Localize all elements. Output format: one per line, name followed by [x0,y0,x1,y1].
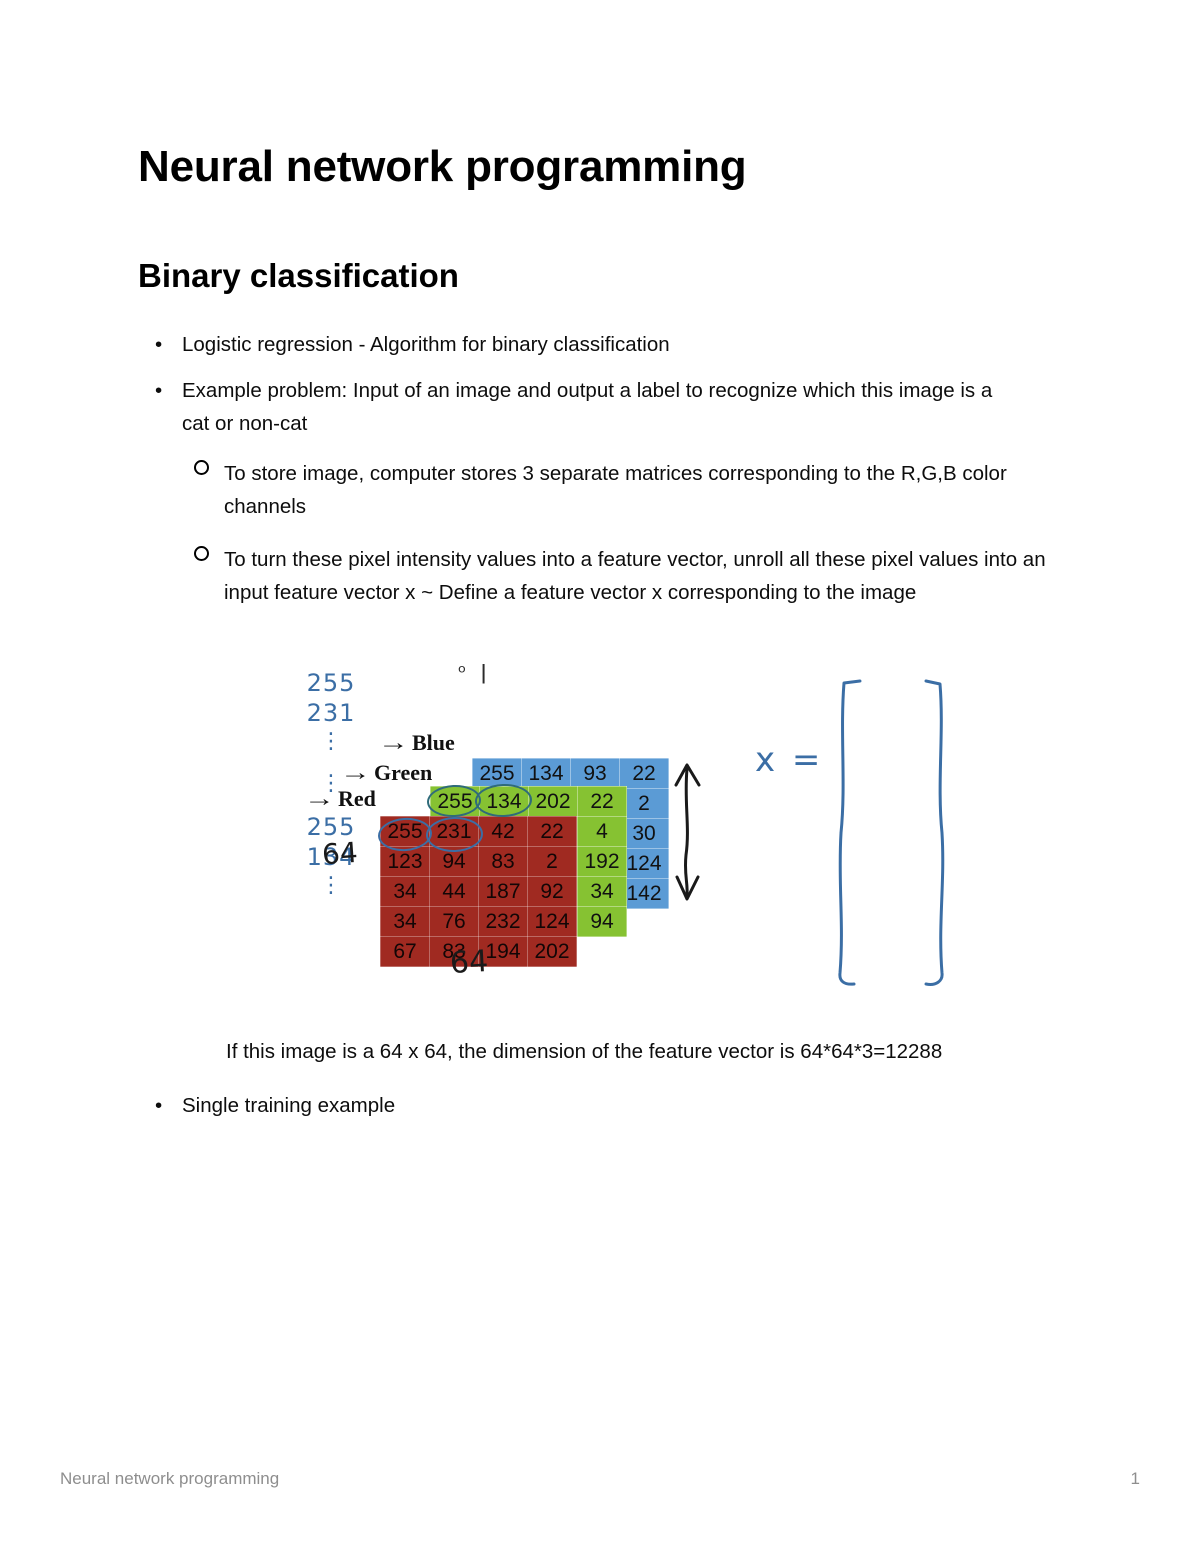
matrix-cell: 22 [528,817,577,847]
rgb-matrix-figure: ᵒ ǀ →Blue →Green →Red 255134932223012414… [270,655,1010,1005]
matrix-cell: 34 [381,907,430,937]
channel-label-green-text: Green [374,760,432,785]
list-item-text: To turn these pixel intensity values int… [224,548,1046,604]
matrix-cell: 34 [578,877,627,907]
channel-label-blue: →Blue [382,730,455,756]
handwritten-feature-vector-bracket [830,673,950,993]
channel-label-blue-text: Blue [412,730,455,755]
matrix-cell: 134 [522,759,571,789]
matrix-cell: 94 [578,907,627,937]
arrow-right-icon: → [304,786,335,812]
page-footer: Neural network programming 1 [60,1469,1140,1489]
matrix-cell: 202 [528,937,577,967]
footer-page-number: 1 [1131,1469,1140,1489]
bullet-circle-icon [194,458,209,482]
list-item: • Logistic regression - Algorithm for bi… [182,328,982,361]
feature-vector-entry: 255 [288,671,374,701]
matrix-cell: 34 [381,877,430,907]
matrix-cell: 187 [479,877,528,907]
matrix-cell: 67 [381,937,430,967]
matrix-cell: 192 [578,847,627,877]
bullet-circle-icon [194,544,209,568]
list-item: • Example problem: Input of an image and… [182,374,1012,440]
handwritten-dim-left: 64 [321,836,359,871]
document-page: Neural network programming Binary classi… [0,0,1200,1553]
bullet-disc-icon: • [155,1089,162,1122]
footer-title: Neural network programming [60,1469,279,1489]
list-item: To turn these pixel intensity values int… [224,543,1050,609]
section-title: Binary classification [138,258,459,294]
matrix-cell: 22 [578,787,627,817]
matrix-cell: 2 [528,847,577,877]
list-item: • Single training example [182,1089,682,1122]
matrix-row: 3476232124 [381,907,577,937]
double-arrow-vertical-icon [670,755,704,907]
bullet-disc-icon: • [155,374,162,407]
channel-label-red-text: Red [338,786,376,811]
matrix-cell: 44 [430,877,479,907]
matrix-cell: 42 [479,817,528,847]
page-title: Neural network programming [138,143,746,191]
feature-vector-entry: ⋮ [288,875,374,917]
matrix-cell: 22 [620,759,669,789]
matrix-row: 344418792 [381,877,577,907]
matrix-cell: 232 [479,907,528,937]
list-item-text: Single training example [182,1094,395,1117]
matrix-cell: 93 [571,759,620,789]
matrix-row: 12394832 [381,847,577,877]
arrow-right-icon: → [340,760,371,786]
list-item-text: Example problem: Input of an image and o… [182,379,992,435]
handwritten-x-equals: x = [755,740,823,780]
channel-label-green: →Green [344,760,432,786]
list-item-text: To store image, computer stores 3 separa… [224,462,1007,518]
matrix-cell: 92 [528,877,577,907]
arrow-right-icon: → [378,730,409,756]
figure-caption: If this image is a 64 x 64, the dimensio… [226,1040,942,1064]
handwritten-top-mark: ᵒ ǀ [458,660,491,684]
handwritten-dim-bottom: 64 [449,944,489,981]
channel-label-red: →Red [308,786,376,812]
feature-vector-entry: 231 [288,701,374,731]
list-item-text: Logistic regression - Algorithm for bina… [182,333,670,356]
list-item: To store image, computer stores 3 separa… [224,457,1014,523]
matrix-cell: 4 [578,817,627,847]
matrix-cell: 83 [479,847,528,877]
matrix-cell: 202 [529,787,578,817]
matrix-cell: 124 [528,907,577,937]
matrix-cell: 76 [430,907,479,937]
bullet-disc-icon: • [155,328,162,361]
